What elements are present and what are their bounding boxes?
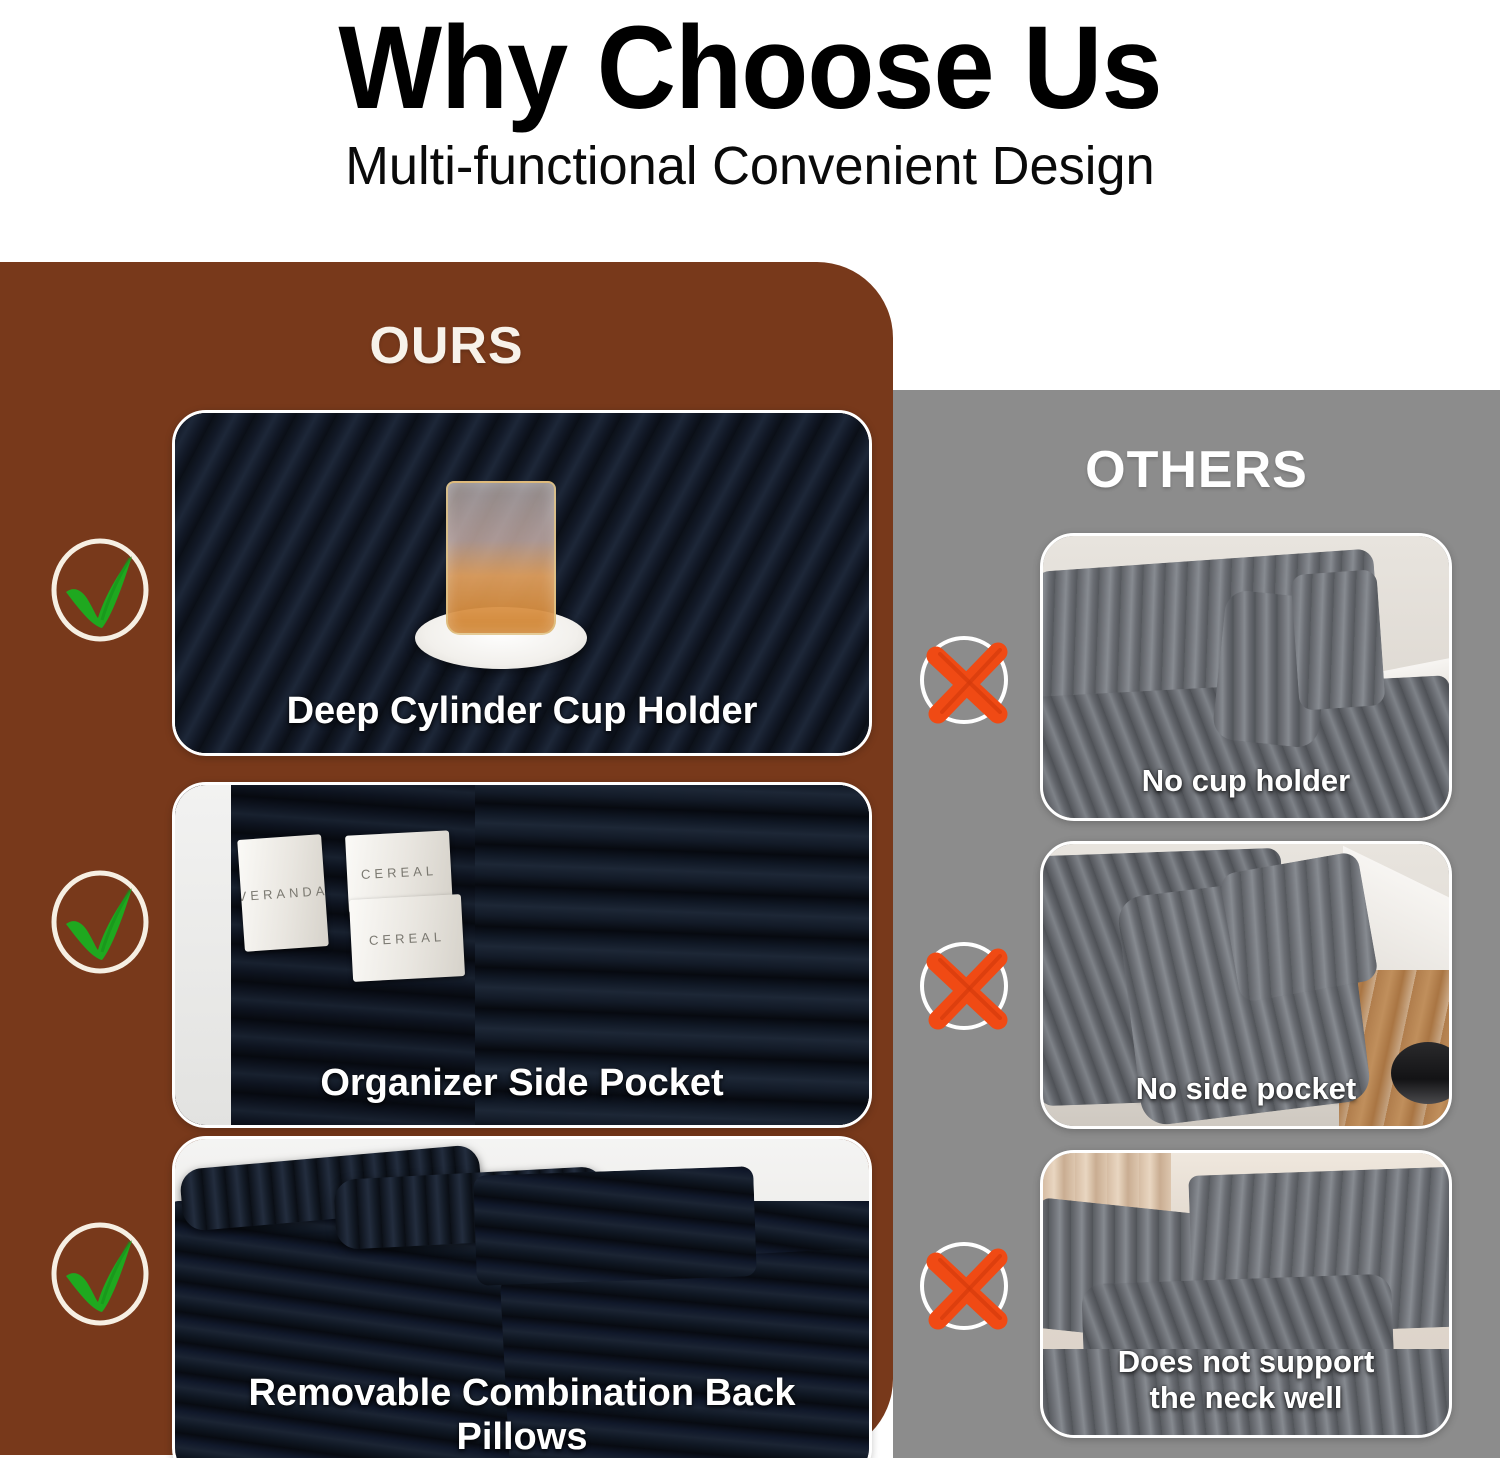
others-caption-3: Does not support the neck well xyxy=(1043,1344,1449,1415)
others-caption-2: No side pocket xyxy=(1043,1071,1449,1106)
header: Why Choose Us Multi-functional Convenien… xyxy=(0,0,1500,262)
page-title: Why Choose Us xyxy=(53,0,1448,134)
drinking-glass xyxy=(446,481,556,635)
others-feature-card-no-side-pocket[interactable]: No side pocket xyxy=(1040,841,1452,1129)
cross-mark-icon xyxy=(912,928,1024,1040)
why-choose-us-infographic: Why Choose Us Multi-functional Convenien… xyxy=(0,0,1500,1458)
others-feature-card-no-cup-holder[interactable]: No cup holder xyxy=(1040,533,1452,821)
ours-feature-card-back-pillows[interactable]: Removable Combination Back Pillows xyxy=(172,1136,872,1458)
others-feature-card-no-neck-support[interactable]: Does not support the neck well xyxy=(1040,1150,1452,1438)
ours-feature-card-cup-holder[interactable]: Deep Cylinder Cup Holder xyxy=(172,410,872,756)
others-caption-3-line-2: the neck well xyxy=(1150,1380,1343,1415)
ours-caption-2: Organizer Side Pocket xyxy=(175,1062,869,1105)
ours-heading: OURS xyxy=(0,316,893,376)
magazine-veranda: VERANDA xyxy=(237,834,329,952)
ours-caption-3: Removable Combination Back Pillows xyxy=(175,1372,869,1458)
ours-feature-card-side-pocket[interactable]: VERANDA CEREAL CEREAL Organizer Side Poc… xyxy=(172,782,872,1128)
others-heading: OTHERS xyxy=(893,440,1500,500)
check-mark-icon xyxy=(44,534,156,646)
cross-mark-icon xyxy=(912,622,1024,734)
check-mark-icon xyxy=(44,1218,156,1330)
magazine-cereal-bottom: CEREAL xyxy=(349,894,465,982)
cross-mark-icon xyxy=(912,1228,1024,1340)
page-subtitle: Multi-functional Convenient Design xyxy=(23,134,1478,195)
ours-caption-1: Deep Cylinder Cup Holder xyxy=(175,690,869,733)
others-caption-1: No cup holder xyxy=(1043,763,1449,798)
others-caption-3-line-1: Does not support xyxy=(1118,1344,1375,1379)
check-mark-icon xyxy=(44,866,156,978)
